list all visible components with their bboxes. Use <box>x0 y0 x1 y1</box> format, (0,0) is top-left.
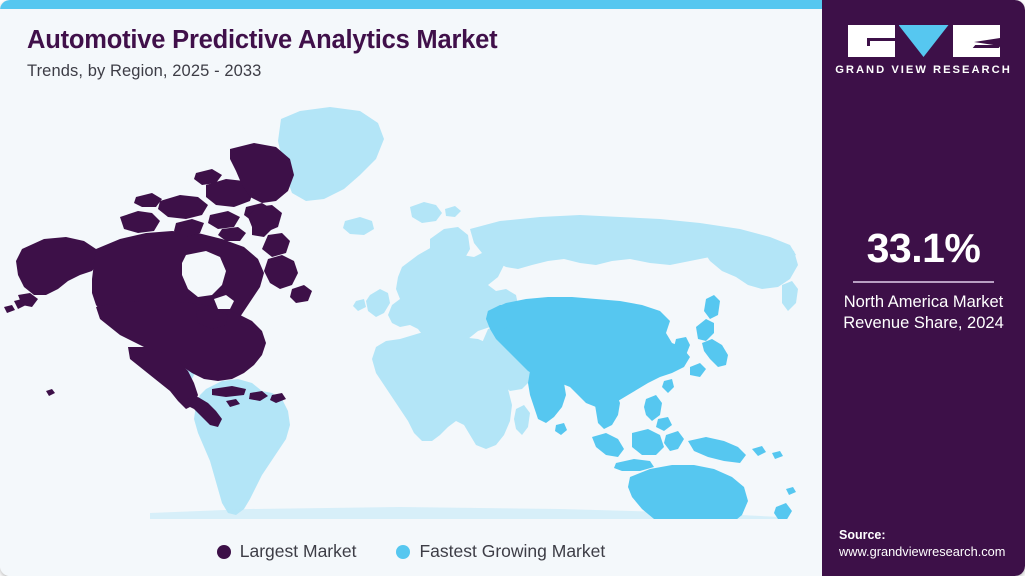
legend-item-largest-market[interactable]: Largest Market <box>217 541 357 562</box>
legend: Largest Market Fastest Growing Market <box>0 541 822 562</box>
world-map-svg <box>0 89 822 519</box>
source-url[interactable]: www.grandviewresearch.com <box>839 544 1025 559</box>
stat-caption-line-1: North America Market <box>822 292 1025 314</box>
legend-item-label: Largest Market <box>240 541 357 562</box>
stat-caption: North America Market Revenue Share, 2024 <box>822 292 1025 336</box>
title-block: Automotive Predictive Analytics Market T… <box>27 26 497 81</box>
page-title: Automotive Predictive Analytics Market <box>27 26 497 55</box>
top-accent-bar <box>0 0 822 9</box>
stat-value: 33.1% <box>822 228 1025 269</box>
market-map-card: Automotive Predictive Analytics Market T… <box>0 0 1025 576</box>
legend-dot-icon <box>396 545 410 559</box>
logo-wordmark: GRAND VIEW RESEARCH <box>835 64 1012 76</box>
legend-item-label: Fastest Growing Market <box>419 541 605 562</box>
legend-dot-icon <box>217 545 231 559</box>
world-map <box>0 89 822 519</box>
map-panel: Automotive Predictive Analytics Market T… <box>0 9 822 576</box>
gvr-logo-g-icon <box>848 25 895 57</box>
page-subtitle: Trends, by Region, 2025 - 2033 <box>27 62 497 81</box>
legend-item-fastest-growing-market[interactable]: Fastest Growing Market <box>396 541 605 562</box>
source-label: Source: <box>839 528 1025 542</box>
gvr-logo-v-icon <box>899 25 949 57</box>
stat-caption-line-2: Revenue Share, 2024 <box>822 313 1025 335</box>
stat-divider <box>853 281 994 283</box>
side-panel: GRAND VIEW RESEARCH 33.1% North America … <box>822 0 1025 576</box>
source-block: Source: www.grandviewresearch.com <box>839 528 1025 559</box>
brand-logo[interactable]: GRAND VIEW RESEARCH <box>822 25 1025 76</box>
gvr-logo-r-icon <box>953 25 1000 57</box>
logo-marks <box>848 25 1000 57</box>
stat-block: 33.1% North America Market Revenue Share… <box>822 228 1025 335</box>
